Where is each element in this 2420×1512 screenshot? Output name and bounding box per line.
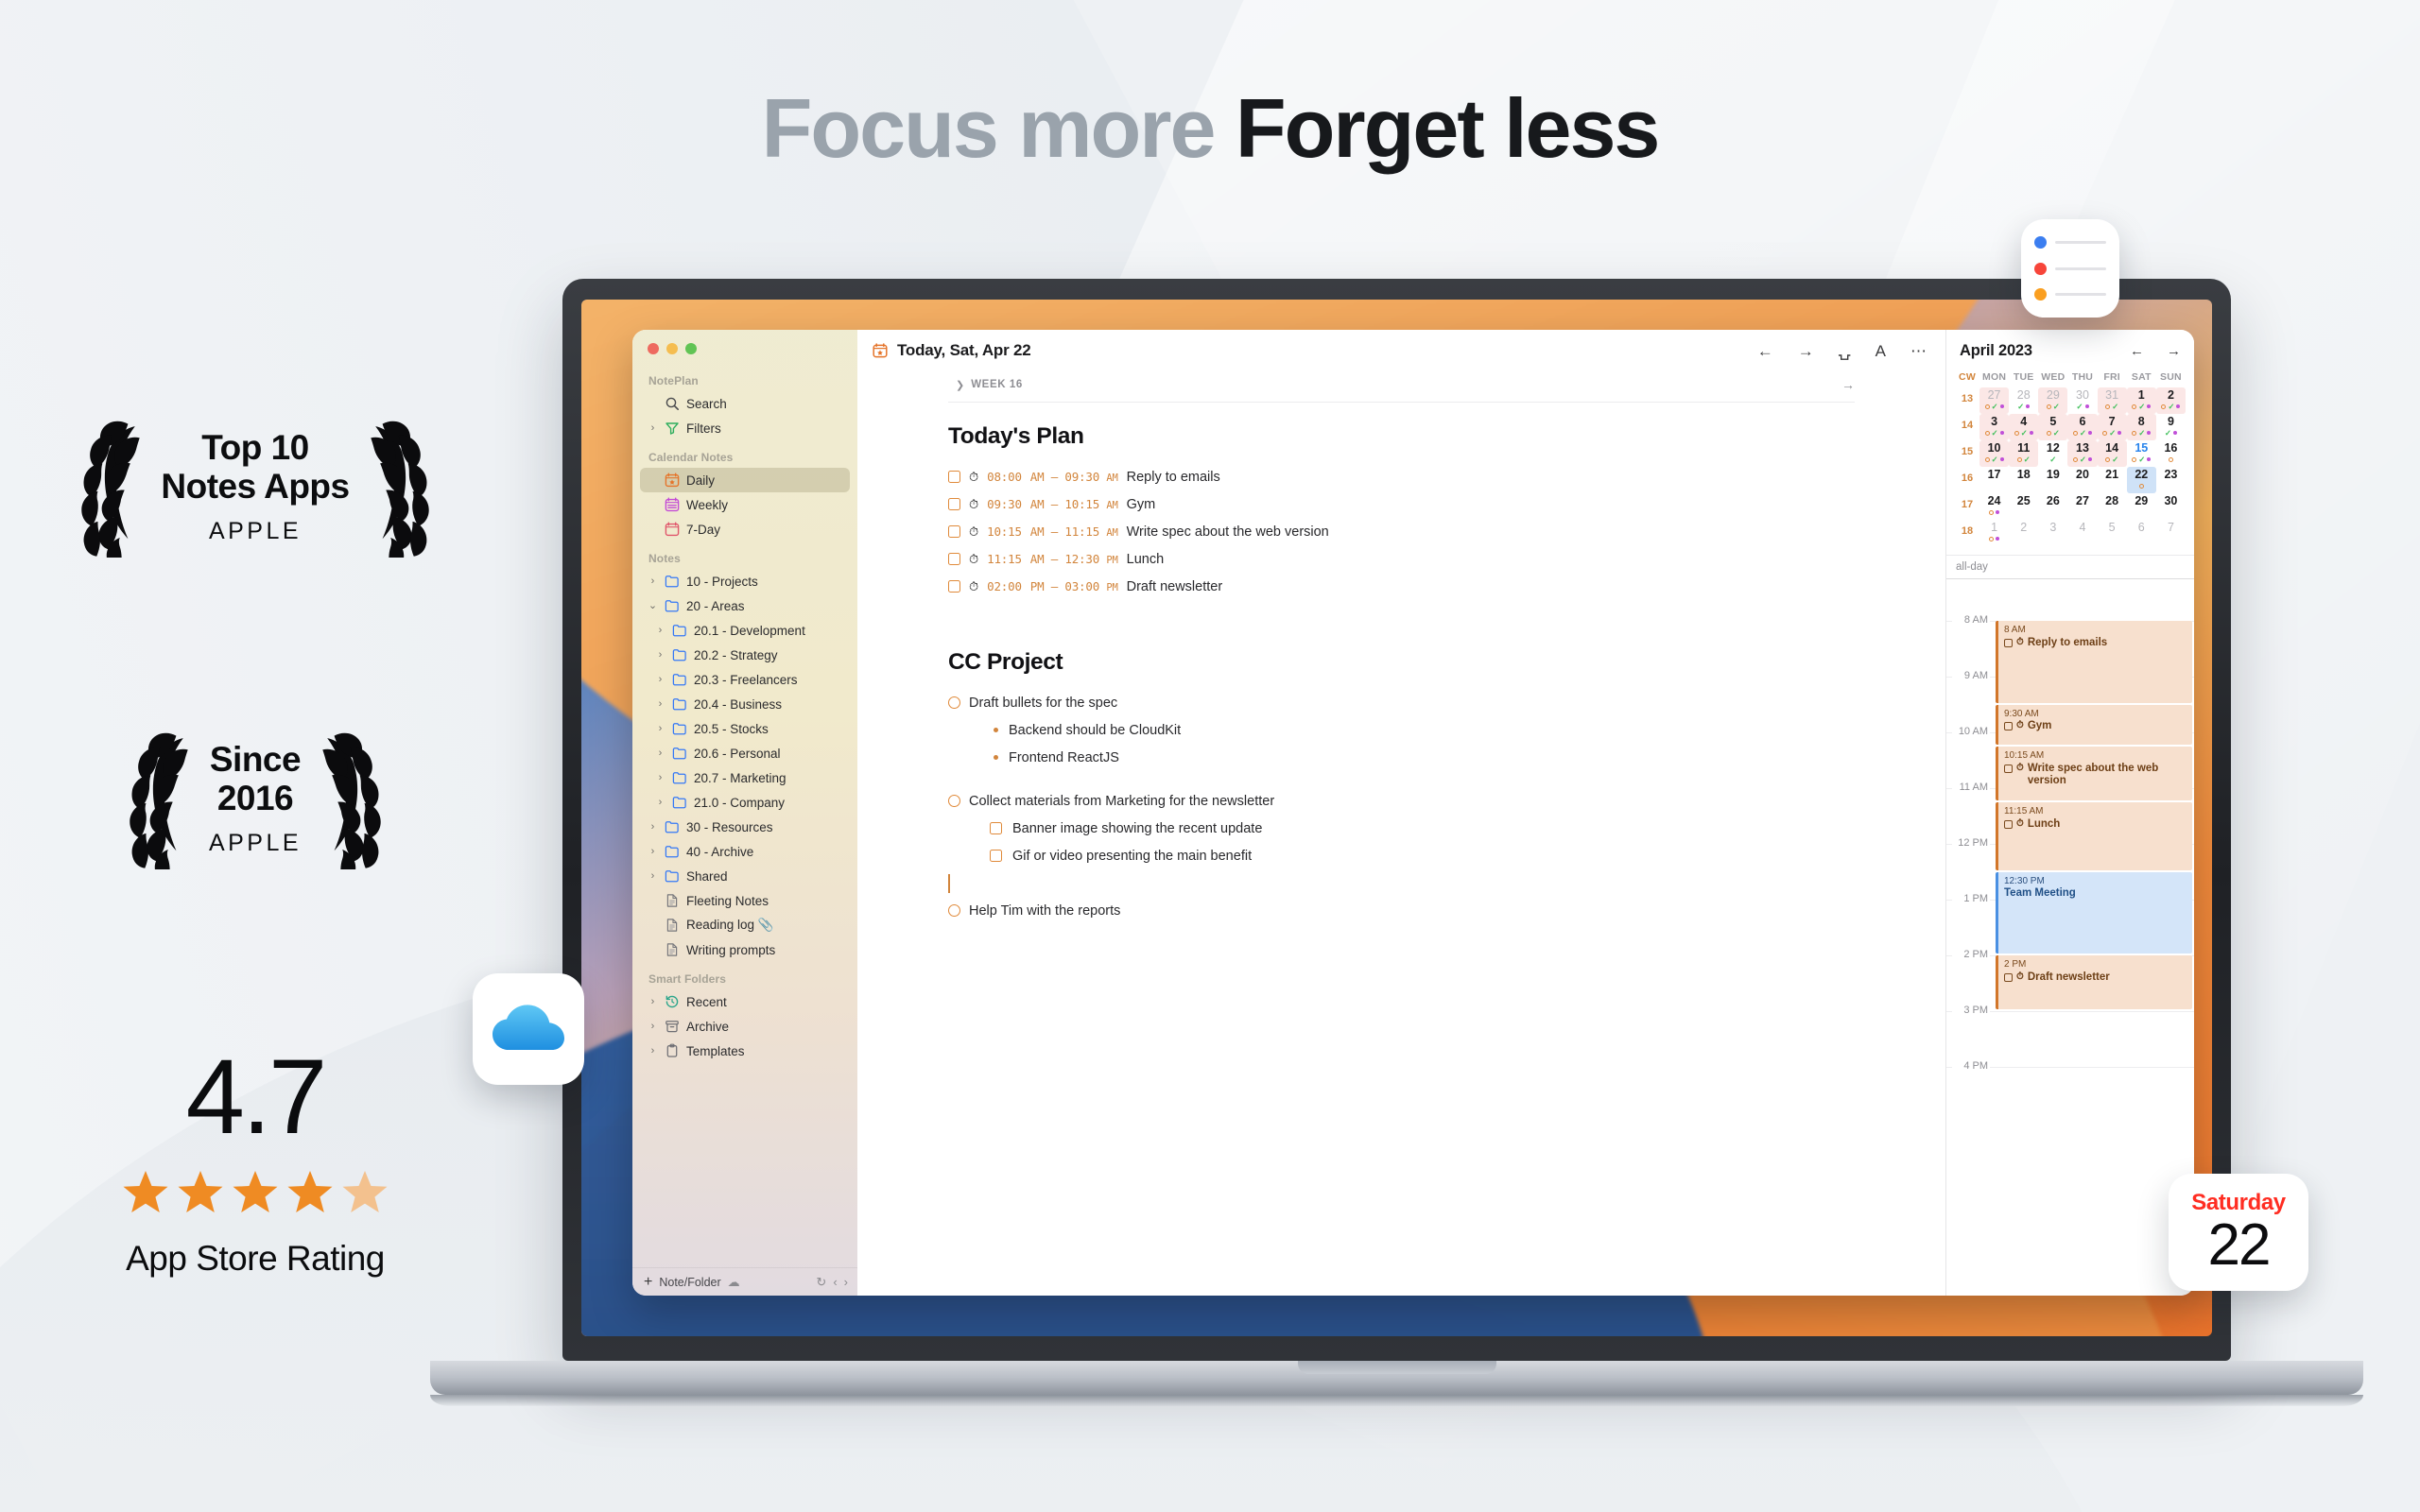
calendar-day-number: 28 (2017, 389, 2031, 403)
sidebar-item-20-6-personal[interactable]: › 20.6 - Personal (640, 741, 850, 765)
chevron-down-icon[interactable]: ⌄ (648, 601, 658, 611)
calendar-day-3[interactable]: 3 ✓ (1979, 414, 2009, 440)
chevron-right-icon[interactable]: › (648, 847, 658, 857)
done-task-marker: ✓ (2138, 403, 2145, 411)
sidebar-item-filters[interactable]: › Filters (640, 416, 850, 440)
calendar-weeks[interactable]: 13 27 ✓ 28 ✓ 29 ✓ 30 ✓ (1955, 387, 2186, 546)
calendar-day-markers: ✓ (2076, 403, 2088, 411)
sidebar-item-label: 20.1 - Development (694, 624, 805, 638)
icloud-icon (473, 973, 584, 1085)
open-task-marker (2073, 457, 2078, 462)
calendar-day-number: 5 (2109, 522, 2116, 535)
folder-icon (672, 746, 687, 761)
todays-plan-task-list[interactable]: ⏱ 08:00 AM – 09:30 AM Reply to emails ⏱ … (948, 463, 1855, 600)
event-marker (2147, 404, 2151, 408)
calendar-day-number: 5 (2049, 416, 2056, 429)
open-task-marker (2132, 457, 2136, 462)
sidebar-item-20-4-business[interactable]: › 20.4 - Business (640, 692, 850, 716)
chevron-right-icon[interactable]: › (648, 871, 658, 882)
chevron-right-icon[interactable]: › (844, 1275, 848, 1289)
event-title-row: ⏱ Write spec about the web version (2004, 763, 2187, 789)
calendar-day-26[interactable]: 26 (2038, 493, 2067, 520)
calendar-month-label: April 2023 (1960, 342, 2032, 360)
todo-label: Draft bullets for the spec (969, 696, 1117, 711)
timeline-event[interactable]: 8 AM ⏱ Reply to emails (1996, 621, 2192, 703)
task-time-range: 02:00 (987, 579, 1022, 593)
editor-toolbar[interactable]: ← → ⍽ A ⋯ (1757, 343, 1927, 359)
sidebar-section-header: Calendar Notes (640, 440, 850, 468)
stopwatch-icon: ⏱ (2016, 720, 2024, 730)
sidebar-item-label: Archive (686, 1020, 729, 1034)
calendar-day-22[interactable]: 22 (2127, 467, 2156, 493)
sidebar-item-shared[interactable]: › Shared (640, 864, 850, 888)
stopwatch-icon: ⏱ (969, 552, 978, 567)
calendar-week-number: 14 (1955, 414, 1979, 440)
done-task-marker: ✓ (2053, 403, 2060, 411)
sidebar-item-archive[interactable]: › Archive (640, 1014, 850, 1039)
calendar-day-2[interactable]: 2 ✓ (2156, 387, 2186, 414)
timeline-event[interactable]: 12:30 PM Team Meeting (1996, 872, 2192, 954)
folder-icon (672, 721, 687, 736)
event-title: Lunch (2028, 818, 2061, 832)
calendar-day-number: 14 (2105, 442, 2118, 455)
maximize-window-button[interactable] (685, 343, 697, 354)
timeline-hour-label: 12 PM (1952, 837, 1990, 849)
calendar-panel: April 2023 ← → CWMONTUEWEDTHUFRISATSUN 1… (1945, 330, 2194, 1296)
timeline-hour-label: 4 PM (1952, 1060, 1990, 1072)
todo-row[interactable]: Help Tim with the reports (948, 897, 1855, 924)
calendar-day-markers (1989, 535, 1999, 543)
calendar-day-number: 2 (2020, 522, 2027, 535)
award-subtitle: APPLE (209, 830, 302, 857)
calendar-day-21[interactable]: 21 (2098, 467, 2127, 493)
calendar-day-number: 29 (2047, 389, 2060, 403)
calendar-day-29[interactable]: 29 ✓ (2038, 387, 2067, 414)
sidebar-item-label: Reading log 📎 (686, 918, 774, 933)
event-marker (2088, 431, 2092, 435)
task-row[interactable]: ⏱ 11:15 AM – 12:30 PM Lunch (948, 545, 1855, 573)
bullet-label: Frontend ReactJS (1009, 750, 1119, 765)
award-badge-since: Since 2016 APPLE (52, 728, 458, 869)
calendar-day-number: 10 (1988, 442, 2001, 455)
folder-icon (665, 844, 680, 859)
event-marker (2026, 404, 2030, 408)
event-time: 11:15 AM (2004, 806, 2187, 817)
todo-circle[interactable] (948, 904, 960, 917)
back-arrow-icon[interactable]: ← (1757, 343, 1773, 359)
sidebar-item-search[interactable]: › Search (640, 391, 850, 416)
calendar-weekday-mon: MON (1979, 371, 2009, 387)
sidebar-item-7-day[interactable]: › 7-Day (640, 517, 850, 541)
open-task-marker (1989, 510, 1994, 515)
chevron-right-icon[interactable]: › (655, 748, 665, 759)
award-title-line1: Since (210, 740, 301, 779)
folder-icon (672, 770, 687, 785)
event-time: 2 PM (2004, 959, 2187, 971)
calendar-day-3[interactable]: 3 (2038, 520, 2067, 546)
calendar-day-1[interactable]: 1 ✓ (2127, 387, 2156, 414)
close-window-button[interactable] (648, 343, 659, 354)
calendar-week-number: 17 (1955, 493, 1979, 520)
star-icon-2 (176, 1167, 225, 1216)
calendar-day-number: 27 (2076, 495, 2089, 508)
calendar-day-29[interactable]: 29 (2127, 493, 2156, 520)
open-task-marker (2169, 457, 2173, 462)
event-marker (2176, 404, 2180, 408)
calendar-weekday-fri: FRI (2098, 371, 2127, 387)
done-task-marker: ✓ (2053, 429, 2060, 438)
open-task-marker (2017, 457, 2022, 462)
chevron-right-icon[interactable]: › (655, 798, 665, 808)
calendar-day-markers (1989, 508, 1999, 517)
calendar-day-12[interactable]: 12 ✓ (2038, 440, 2067, 467)
next-month-arrow-icon[interactable]: → (2167, 343, 2181, 359)
timeline-event[interactable]: 9:30 AM ⏱ Gym (1996, 705, 2192, 745)
event-checkbox[interactable] (2004, 973, 2013, 982)
event-title-row: Team Meeting (2004, 887, 2187, 901)
chevron-right-icon[interactable]: › (655, 773, 665, 783)
calendar-day-23[interactable]: 23 (2156, 467, 2186, 493)
task-row[interactable]: ⏱ 10:15 AM – 11:15 AM Write spec about t… (948, 518, 1855, 545)
calendar-day-markers: ✓ (2132, 455, 2151, 464)
all-day-row[interactable]: all-day (1946, 555, 2194, 579)
calendar-day-20[interactable]: 20 (2067, 467, 2097, 493)
calendar-day-number: 13 (2076, 442, 2089, 455)
event-marker (2000, 457, 2004, 461)
note-content[interactable]: Today's Plan ⏱ 08:00 AM – 09:30 AM Reply… (857, 403, 1945, 924)
date-card-number: 22 (2208, 1214, 2270, 1276)
event-title-row: ⏱ Draft newsletter (2004, 971, 2187, 985)
calendar-day-5[interactable]: 5 ✓ (2038, 414, 2067, 440)
week-reference-row[interactable]: ❯ WEEK 16 → (956, 377, 1945, 392)
calendar-day-27[interactable]: 27 (2067, 493, 2097, 520)
calendar-day-6[interactable]: 6 (2127, 520, 2156, 546)
section-heading-cc-project: CC Project (948, 649, 1855, 676)
sync-icon[interactable]: ↻ (816, 1275, 826, 1290)
todo-circle[interactable] (948, 795, 960, 807)
sidebar-item-20-1-development[interactable]: › 20.1 - Development (640, 618, 850, 643)
date-card-weekday: Saturday (2191, 1192, 2286, 1214)
stopwatch-icon: ⏱ (969, 579, 978, 594)
sidebar-item-label: 20.4 - Business (694, 697, 782, 712)
timeline-hour-label: 11 AM (1952, 782, 1990, 793)
open-week-arrow-icon[interactable]: → (1841, 377, 1855, 392)
chevron-right-icon[interactable]: › (648, 423, 658, 434)
calendar-day-4[interactable]: 4 (2067, 520, 2097, 546)
page-headline: Focus more Forget less (0, 80, 2420, 177)
event-checkbox[interactable] (2004, 765, 2013, 773)
open-task-marker (2102, 431, 2107, 436)
chevron-right-icon[interactable]: › (655, 675, 665, 685)
sidebar-item-fleeting-notes[interactable]: › Fleeting Notes (640, 888, 850, 913)
open-task-marker (2073, 431, 2078, 436)
calendar-day-13[interactable]: 13 ✓ (2067, 440, 2097, 467)
task-checkbox[interactable] (948, 525, 960, 538)
sidebar-item-label: Fleeting Notes (686, 894, 769, 908)
date-card: Saturday 22 (2169, 1174, 2308, 1291)
sidebar-item-label: Weekly (686, 498, 728, 512)
calendar-day-number: 1 (2138, 389, 2145, 403)
calendar-day-15[interactable]: 15 ✓ (2127, 440, 2156, 467)
sidebar-item-writing-prompts[interactable]: › Writing prompts (640, 937, 850, 962)
sidebar-item-10-projects[interactable]: › 10 - Projects (640, 569, 850, 593)
subtask-checkbox[interactable] (990, 822, 1002, 834)
chevron-right-icon[interactable]: › (648, 1022, 658, 1032)
task-row[interactable]: ⏱ 09:30 AM – 10:15 AM Gym (948, 490, 1855, 518)
sidebar-item-reading-log[interactable]: › Reading log 📎 (640, 913, 850, 937)
folder-icon (672, 672, 687, 687)
sidebar-item-20-7-marketing[interactable]: › 20.7 - Marketing (640, 765, 850, 790)
sidebar-item-label: 20.2 - Strategy (694, 648, 778, 662)
chevron-right-icon[interactable]: › (648, 576, 658, 587)
sidebar-items-list[interactable]: NotePlan › Search › Filters Calendar Not… (632, 364, 857, 1267)
folder-icon (665, 819, 680, 834)
calendar-day-5[interactable]: 5 (2098, 520, 2127, 546)
sidebar-item-weekly[interactable]: › Weekly (640, 492, 850, 517)
calendar-day-8[interactable]: 8 ✓ (2127, 414, 2156, 440)
sidebar: NotePlan › Search › Filters Calendar Not… (632, 330, 857, 1296)
sidebar-item-label: 20.6 - Personal (694, 747, 781, 761)
sidebar-item-21-0-company[interactable]: › 21.0 - Company (640, 790, 850, 815)
chevron-left-icon[interactable]: ‹ (833, 1275, 837, 1289)
subtask-checkbox[interactable] (990, 850, 1002, 862)
folder-icon (672, 647, 687, 662)
calendar-day-27[interactable]: 27 ✓ (1979, 387, 2009, 414)
calendar-weekday-sat: SAT (2127, 371, 2156, 387)
calendar-day-28[interactable]: 28 (2098, 493, 2127, 520)
chevron-right-icon[interactable]: › (648, 1046, 658, 1057)
chevron-right-icon[interactable]: › (655, 650, 665, 661)
calendar-day-25[interactable]: 25 (2009, 493, 2038, 520)
calendar-day-markers: ✓ (2102, 429, 2121, 438)
task-time-range: 10:15 (987, 524, 1022, 539)
chevron-right-icon[interactable]: › (648, 997, 658, 1007)
done-task-marker: ✓ (2017, 403, 2024, 411)
rating-label: App Store Rating (52, 1239, 458, 1279)
calendar-day-11[interactable]: 11 ✓ (2009, 440, 2038, 467)
event-marker (2085, 404, 2089, 408)
award-subtitle: APPLE (161, 518, 349, 545)
bullet-dot-icon (994, 755, 998, 760)
calendar-day-markers: ✓ (1985, 403, 2004, 411)
calendar-day-number: 6 (2080, 416, 2086, 429)
event-checkbox[interactable] (2004, 820, 2013, 829)
chevron-right-icon[interactable]: ❯ (956, 379, 964, 391)
bullet-dot-icon (994, 728, 998, 732)
calendar-day-markers: ✓ (2165, 429, 2177, 438)
chevron-right-icon[interactable]: › (655, 699, 665, 710)
calendar-day-number: 16 (2164, 442, 2177, 455)
task-row[interactable]: ⏱ 02:00 PM – 03:00 PM Draft newsletter (948, 573, 1855, 600)
task-label: Lunch (1127, 552, 1165, 567)
headline-strong: Forget less (1236, 81, 1658, 175)
laptop-display: NotePlan › Search › Filters Calendar Not… (581, 300, 2212, 1336)
done-task-marker: ✓ (2112, 403, 2118, 411)
calendar-day-markers: ✓ (2047, 403, 2060, 411)
done-task-marker: ✓ (2168, 403, 2174, 411)
window-traffic-lights[interactable] (632, 330, 857, 364)
open-task-marker (1985, 431, 1990, 436)
task-time-range: 11:15 (987, 552, 1022, 566)
clock-history-icon (665, 994, 680, 1009)
calendar-day-16[interactable]: 16 (2156, 440, 2186, 467)
calendar-day-7[interactable]: 7 (2156, 520, 2186, 546)
subtask-row[interactable]: Gif or video presenting the main benefit (948, 842, 1855, 869)
todo-label: Collect materials from Marketing for the… (969, 794, 1274, 809)
calendar-day-markers: ✓ (2073, 455, 2092, 464)
event-time: 10:15 AM (2004, 750, 2187, 762)
calendar-day-number: 22 (2135, 469, 2148, 482)
laptop-base (430, 1395, 2363, 1406)
document-icon (665, 893, 680, 908)
open-task-marker (2014, 431, 2019, 436)
sidebar-item-20-2-strategy[interactable]: › 20.2 - Strategy (640, 643, 850, 667)
stopwatch-icon: ⏱ (2016, 818, 2024, 829)
task-row[interactable]: ⏱ 08:00 AM – 09:30 AM Reply to emails (948, 463, 1855, 490)
task-checkbox[interactable] (948, 498, 960, 510)
calendar-day-number: 25 (2017, 495, 2031, 508)
event-checkbox[interactable] (2004, 722, 2013, 730)
calendar-day-number: 30 (2164, 495, 2177, 508)
task-checkbox[interactable] (948, 471, 960, 483)
timeline-hour-label: 8 AM (1952, 614, 1990, 626)
calendar-day-number: 23 (2164, 469, 2177, 482)
folder-icon (672, 795, 687, 810)
calendar-day-9[interactable]: 9 ✓ (2156, 414, 2186, 440)
calendar-day-30[interactable]: 30 (2156, 493, 2186, 520)
minimize-window-button[interactable] (666, 343, 678, 354)
done-task-marker: ✓ (2080, 429, 2086, 438)
task-checkbox[interactable] (948, 580, 960, 593)
calendar-week-number: 13 (1955, 387, 1979, 414)
laurel-wreath-left-icon (118, 728, 199, 869)
done-task-marker: ✓ (1992, 455, 1998, 464)
laurel-wreath-right-icon (359, 416, 441, 558)
share-icon[interactable]: ⍽ (1839, 343, 1851, 359)
editor-body[interactable]: ❯ WEEK 16 → Today's Plan ⏱ 08:00 AM – 09… (857, 371, 1945, 1296)
event-checkbox[interactable] (2004, 639, 2013, 647)
calendar-weekday-thu: THU (2067, 371, 2097, 387)
sidebar-item-templates[interactable]: › Templates (640, 1039, 850, 1063)
note-editor: Today, Sat, Apr 22 ← → ⍽ A ⋯ ❯ WEEK 16 (857, 330, 1945, 1296)
format-text-icon[interactable]: A (1875, 343, 1886, 359)
prev-month-arrow-icon[interactable]: ← (2130, 343, 2144, 359)
calendar-header: April 2023 ← → (1946, 330, 2194, 371)
bullet-row: Backend should be CloudKit (948, 716, 1855, 744)
done-task-marker: ✓ (2138, 455, 2145, 464)
sidebar-item-recent[interactable]: › Recent (640, 989, 850, 1014)
todo-circle[interactable] (948, 696, 960, 709)
document-icon (665, 918, 680, 933)
calendar-day-30[interactable]: 30 ✓ (2067, 387, 2097, 414)
calendar-day-number: 4 (2020, 416, 2027, 429)
event-time: 12:30 PM (2004, 876, 2187, 887)
calendar-day-24[interactable]: 24 (1979, 493, 2009, 520)
calendar-month-grid[interactable]: CWMONTUEWEDTHUFRISATSUN 13 27 ✓ 28 ✓ 29 … (1946, 371, 2194, 546)
timeline-event[interactable]: 2 PM ⏱ Draft newsletter (1996, 955, 2192, 1009)
calendar-day-markers: ✓ (2049, 455, 2056, 464)
calendar-week-number: 18 (1955, 520, 1979, 546)
sidebar-item-30-resources[interactable]: › 30 - Resources (640, 815, 850, 839)
calendar-weekday-sun: SUN (2156, 371, 2186, 387)
note-title: Today, Sat, Apr 22 (897, 341, 1031, 360)
calendar-day-1[interactable]: 1 (1979, 520, 2009, 546)
calendar-day-markers: ✓ (2014, 429, 2033, 438)
forward-arrow-icon[interactable]: → (1798, 343, 1814, 359)
task-label: Write spec about the web version (1127, 524, 1329, 540)
calendar-day-28[interactable]: 28 ✓ (2009, 387, 2038, 414)
more-options-icon[interactable]: ⋯ (1910, 343, 1927, 359)
week-label[interactable]: WEEK 16 (971, 379, 1023, 390)
timeline-event[interactable]: 10:15 AM ⏱ Write spec about the web vers… (1996, 747, 2192, 800)
todo-row[interactable]: Draft bullets for the spec (948, 689, 1855, 716)
cloud-glyph-icon (489, 1003, 568, 1056)
event-title-row: ⏱ Gym (2004, 720, 2187, 733)
chevron-right-icon[interactable]: › (648, 822, 658, 833)
calendar-day-2[interactable]: 2 (2009, 520, 2038, 546)
event-title: Gym (2028, 720, 2052, 733)
task-checkbox[interactable] (948, 553, 960, 565)
sidebar-item-20-5-stocks[interactable]: › 20.5 - Stocks (640, 716, 850, 741)
event-marker (1996, 537, 1999, 541)
timeline-event[interactable]: 11:15 AM ⏱ Lunch (1996, 802, 2192, 870)
day-timeline[interactable]: 8 AM 9 AM 10 AM 11 AM 12 PM 1 PM (1946, 579, 2194, 1296)
task-time-range: 08:00 (987, 470, 1022, 484)
calendar-day-18[interactable]: 18 (2009, 467, 2038, 493)
star-icon-1 (121, 1167, 170, 1216)
add-note-folder-label[interactable]: Note/Folder (659, 1276, 720, 1289)
calendar-day-6[interactable]: 6 ✓ (2067, 414, 2097, 440)
open-task-marker (1985, 404, 1990, 409)
chevron-right-icon[interactable]: › (655, 626, 665, 636)
calendar-day-10[interactable]: 10 ✓ (1979, 440, 2009, 467)
sidebar-item-40-archive[interactable]: › 40 - Archive (640, 839, 850, 864)
award-title-line2: Notes Apps (161, 467, 349, 506)
todo-label: Help Tim with the reports (969, 903, 1120, 919)
calendar-nav[interactable]: ← → (2130, 343, 2181, 359)
stopwatch-icon: ⏱ (2016, 763, 2024, 773)
todo-row[interactable]: Collect materials from Marketing for the… (948, 787, 1855, 815)
calendar-week-number: 15 (1955, 440, 1979, 467)
archive-box-icon (665, 1019, 680, 1034)
calendar-day-7[interactable]: 7 ✓ (2098, 414, 2127, 440)
calendar-day-number: 27 (1988, 389, 2001, 403)
sidebar-item-20-areas[interactable]: ⌄ 20 - Areas (640, 593, 850, 618)
timeline-hour-line: 3 PM (1946, 1011, 2194, 1012)
sidebar-item-20-3-freelancers[interactable]: › 20.3 - Freelancers (640, 667, 850, 692)
calendar-day-19[interactable]: 19 (2038, 467, 2067, 493)
calendar-day-number: 7 (2109, 416, 2116, 429)
calendar-day-17[interactable]: 17 (1979, 467, 2009, 493)
cc-project-item-list[interactable]: Draft bullets for the spec Backend shoul… (948, 689, 1855, 924)
sidebar-item-label: 20.5 - Stocks (694, 722, 769, 736)
calendar-day-14[interactable]: 14 ✓ (2098, 440, 2127, 467)
sidebar-item-daily[interactable]: › Daily (640, 468, 850, 492)
calendar-day-markers: ✓ (2017, 403, 2030, 411)
plus-icon[interactable]: + (644, 1275, 652, 1290)
calendar-day-4[interactable]: 4 ✓ (2009, 414, 2038, 440)
chevron-right-icon[interactable]: › (655, 724, 665, 734)
timeline-hour-label: 10 AM (1952, 726, 1990, 737)
calendar-day-31[interactable]: 31 ✓ (2098, 387, 2127, 414)
calendar-day-number: 15 (2135, 442, 2148, 455)
timeline-hour-label: 3 PM (1952, 1005, 1990, 1016)
subtask-row[interactable]: Banner image showing the recent update (948, 815, 1855, 842)
open-task-marker (2105, 404, 2110, 409)
sidebar-item-label: Daily (686, 473, 715, 488)
calendar-day-number: 8 (2138, 416, 2145, 429)
sidebar-item-label: 7-Day (686, 523, 720, 537)
